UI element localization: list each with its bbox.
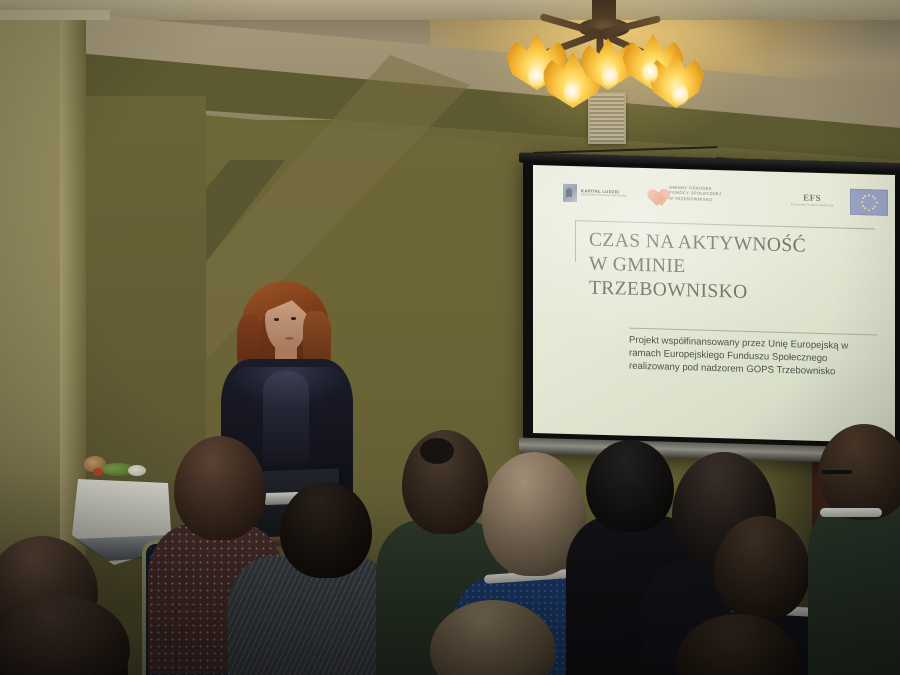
light-bulb: [642, 62, 658, 84]
ceiling-trim: [0, 0, 900, 20]
light-bulb: [672, 84, 688, 106]
heart-icon: [642, 182, 664, 203]
audience-torso: [808, 498, 900, 675]
audience-hair-bun: [420, 438, 454, 464]
presentation-photo-scene: KAPITAŁ LUDZKI NARODOWA STRATEGIA SPÓJNO…: [0, 0, 900, 675]
presenter-eye: [291, 317, 296, 320]
slide-rule-top: [575, 220, 875, 229]
slide-logo-row: KAPITAŁ LUDZKI NARODOWA STRATEGIA SPÓJNO…: [533, 177, 895, 221]
audience-head: [280, 482, 372, 578]
audience-head: [586, 440, 674, 532]
gops-logo: GMINNY OŚRODEK POMOCY SPOŁECZNEJ W TRZEB…: [643, 182, 722, 204]
efs-logo-title: EFS: [791, 192, 833, 203]
slide-body-text: Projekt współfinansowany przez Unię Euro…: [629, 334, 867, 380]
snack-plate: [128, 465, 146, 476]
kapital-ludzki-icon: [563, 184, 577, 202]
wall-pillar-face: [0, 20, 62, 610]
eyeglasses-arm: [822, 470, 852, 474]
light-bulb: [564, 82, 580, 104]
audience-head: [714, 516, 810, 620]
audience-head: [174, 436, 266, 540]
snack-garnish: [93, 468, 103, 476]
projection-screen: KAPITAŁ LUDZKI NARODOWA STRATEGIA SPÓJNO…: [523, 153, 900, 469]
slide-rule-vertical: [575, 220, 576, 262]
presentation-slide: KAPITAŁ LUDZKI NARODOWA STRATEGIA SPÓJNO…: [533, 165, 895, 443]
slide-title: CZAS NA AKTYWNOŚĆ W GMINIE TRZEBOWNISKO: [589, 229, 889, 309]
wall-pillar-trim: [0, 10, 110, 20]
efs-logo: EFS Europejski Fundusz Społeczny: [791, 192, 833, 207]
light-bulb: [528, 66, 544, 88]
ceiling-chandelier: [500, 0, 710, 104]
efs-logo-subtitle: Europejski Fundusz Społeczny: [791, 203, 833, 207]
kapital-ludzki-logo: KAPITAŁ LUDZKI NARODOWA STRATEGIA SPÓJNO…: [563, 184, 627, 204]
audience-collar: [820, 508, 882, 517]
eu-flag-logo: [850, 189, 888, 216]
light-bulb: [602, 66, 618, 88]
kapital-ludzki-subtitle: NARODOWA STRATEGIA SPÓJNOŚCI: [581, 194, 627, 198]
eu-stars-icon: [851, 190, 887, 215]
presenter-mouth: [285, 337, 294, 340]
presenter-eye: [274, 318, 279, 321]
screen-frame: KAPITAŁ LUDZKI NARODOWA STRATEGIA SPÓJNO…: [523, 153, 900, 464]
